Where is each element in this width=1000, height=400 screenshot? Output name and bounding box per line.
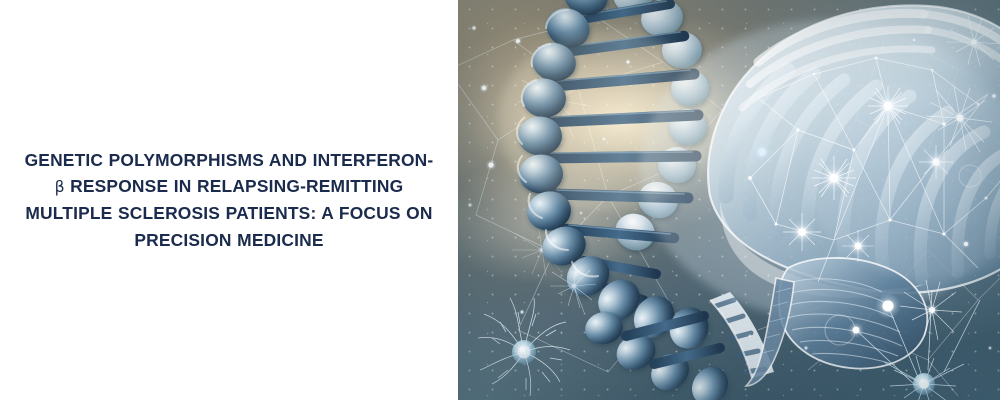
page-title: Genetic Polymorphisms and Interferon-β R… bbox=[22, 147, 436, 253]
title-text-part2: Response in Relapsing-Remitting Multiple… bbox=[25, 176, 432, 249]
hero-illustration bbox=[458, 0, 1000, 400]
title-panel: Genetic Polymorphisms and Interferon-β R… bbox=[0, 0, 458, 400]
title-text-part1: Genetic Polymorphisms and Interferon- bbox=[25, 150, 434, 170]
beta-symbol: β bbox=[55, 178, 65, 196]
illustration-vignette bbox=[458, 0, 1000, 400]
article-banner: Genetic Polymorphisms and Interferon-β R… bbox=[0, 0, 1000, 400]
